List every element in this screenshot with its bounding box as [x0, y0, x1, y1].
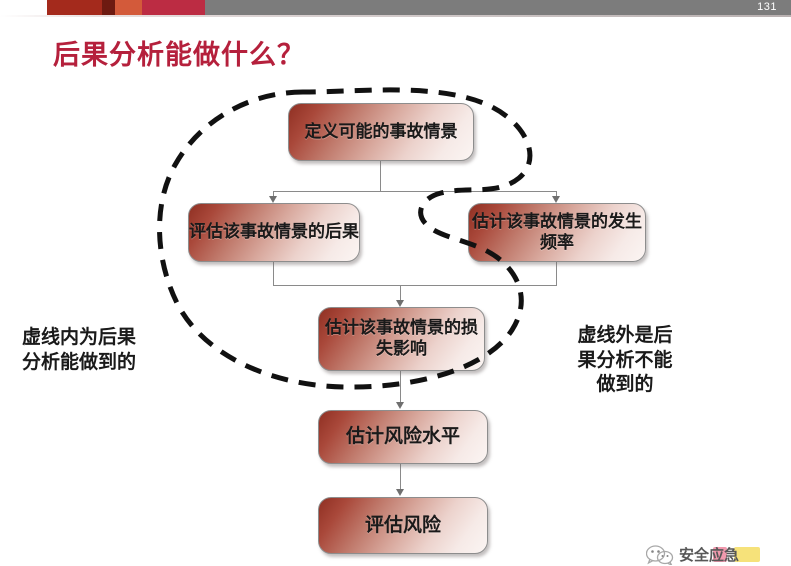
bar-segment-maroon — [102, 0, 115, 15]
arrowhead-to-frequency — [552, 196, 560, 203]
note-outside-line-1: 虚线外是后 — [550, 323, 700, 348]
note-inside-line-2: 分析能做到的 — [22, 350, 136, 375]
header-divider — [0, 15, 791, 17]
connector-split-horizontal — [273, 191, 556, 192]
flow-node-estimate-loss[interactable]: 估计该事故情景的损失影响 — [318, 307, 485, 371]
page-number: 131 — [757, 0, 777, 15]
flow-node-estimate-frequency-label: 估计该事故情景的发生频率 — [469, 212, 645, 253]
arrowhead-to-risk-level — [396, 402, 404, 409]
flow-node-evaluate-risk-label: 评估风险 — [365, 514, 441, 537]
bar-segment-dark-red — [47, 0, 102, 15]
flow-node-assess-consequence[interactable]: 评估该事故情景的后果 — [188, 203, 360, 262]
note-inside-dashed: 虚线内为后果 分析能做到的 — [22, 325, 136, 374]
note-outside-line-3: 做到的 — [550, 372, 700, 397]
bar-segment-orange-red — [115, 0, 142, 15]
connector-frequency-down — [556, 260, 557, 285]
bar-segment-gray — [205, 0, 791, 15]
note-inside-line-1: 虚线内为后果 — [22, 325, 136, 350]
top-color-bar: 131 — [0, 0, 791, 15]
flow-node-assess-consequence-label: 评估该事故情景的后果 — [189, 222, 359, 243]
arrowhead-to-evaluate — [396, 489, 404, 496]
wechat-logo — [646, 545, 674, 565]
watermark-text: 安全应急 — [679, 544, 739, 565]
flow-node-define-scenario-label: 定义可能的事故情景 — [305, 122, 458, 143]
flow-node-estimate-risk-level[interactable]: 估计风险水平 — [318, 410, 488, 464]
arrowhead-to-consequence — [269, 196, 277, 203]
flow-node-define-scenario[interactable]: 定义可能的事故情景 — [288, 103, 474, 161]
connector-merge-horizontal — [273, 285, 557, 286]
flow-node-evaluate-risk[interactable]: 评估风险 — [318, 497, 488, 554]
connector-merge-to-loss — [400, 285, 401, 301]
flow-node-estimate-frequency[interactable]: 估计该事故情景的发生频率 — [468, 203, 646, 262]
note-outside-dashed: 虚线外是后 果分析不能 做到的 — [550, 323, 700, 397]
dashed-lasso-boundary — [0, 0, 791, 566]
connector-risklevel-down — [400, 462, 401, 490]
note-outside-line-2: 果分析不能 — [550, 348, 700, 373]
bar-segment-crimson — [142, 0, 205, 15]
connector-loss-down — [400, 369, 401, 403]
arrowhead-to-loss — [396, 300, 404, 307]
page-title: 后果分析能做什么？ — [53, 33, 305, 72]
watermark: 安全应急 — [646, 541, 791, 566]
flow-node-estimate-risk-level-label: 估计风险水平 — [346, 425, 460, 448]
slide-canvas: 131 后果分析能做什么？ 定义可能的事故情景 评估该事故情景的后果 估计该事故… — [0, 0, 791, 566]
connector-define-down — [380, 159, 381, 191]
connector-consequence-down — [273, 260, 274, 285]
flow-node-estimate-loss-label: 估计该事故情景的损失影响 — [319, 318, 484, 359]
